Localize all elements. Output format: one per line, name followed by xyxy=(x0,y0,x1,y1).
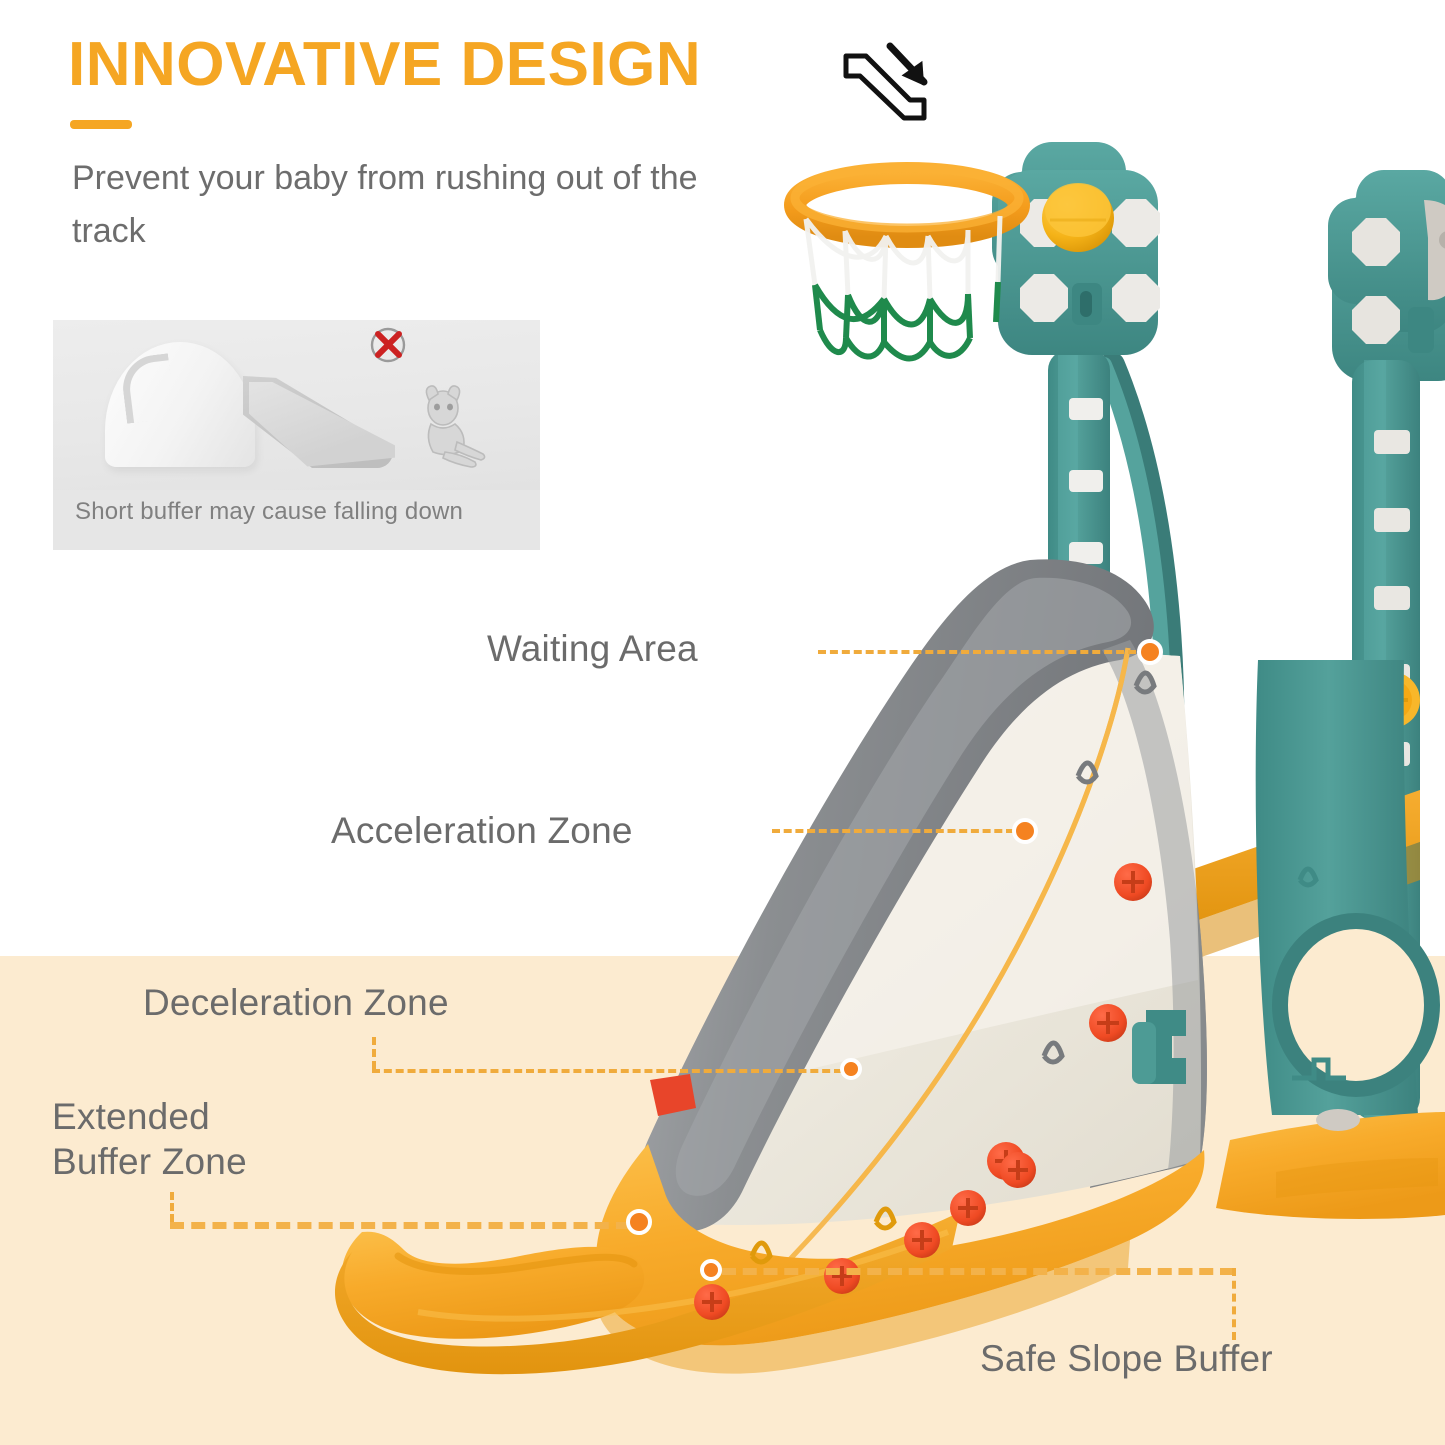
swing-frame-plate xyxy=(1328,170,1445,381)
callout-label-deceleration-zone: Deceleration Zone xyxy=(143,980,449,1026)
title-underline xyxy=(70,120,132,129)
page-title: INNOVATIVE DESIGN xyxy=(68,34,701,96)
red-x-icon xyxy=(366,323,410,367)
leader-line-safe-slope-buffer xyxy=(722,1268,1234,1275)
slide-body xyxy=(639,559,1207,1290)
basketball-hoop xyxy=(795,168,1019,359)
leader-line-acceleration-zone xyxy=(772,829,1014,833)
page-subtitle: Prevent your baby from rushing out of th… xyxy=(72,152,772,257)
leader-dot-safe-slope-buffer xyxy=(700,1259,722,1281)
hoop-backboard-plate xyxy=(992,142,1160,355)
callout-label-extended-buffer-line2: Buffer Zone xyxy=(52,1141,247,1182)
leader-dot-extended-buffer xyxy=(626,1209,652,1235)
small-slide-ramp-highlight xyxy=(249,382,395,470)
leader-dot-acceleration-zone xyxy=(1012,818,1038,844)
infographic-canvas: INNOVATIVE DESIGN Prevent your baby from… xyxy=(0,0,1445,1445)
callout-label-safe-slope-buffer: Safe Slope Buffer xyxy=(980,1336,1273,1382)
counter-example-photo xyxy=(53,320,540,490)
callout-label-waiting-area: Waiting Area xyxy=(487,626,698,672)
callout-label-extended-buffer-line1: Extended xyxy=(52,1096,210,1137)
leader-stub-extended-buffer xyxy=(170,1192,174,1222)
leader-line-deceleration-zone xyxy=(372,1069,842,1073)
callout-label-acceleration-zone: Acceleration Zone xyxy=(331,808,633,854)
counter-example-card: Short buffer may cause falling down xyxy=(53,320,540,550)
leader-dot-deceleration-zone xyxy=(840,1058,862,1080)
callout-label-extended-buffer: ExtendedBuffer Zone xyxy=(52,1094,332,1184)
fallen-child-figure xyxy=(405,380,497,472)
leader-line-extended-buffer xyxy=(170,1222,630,1229)
slide-down-icon xyxy=(838,34,948,134)
leader-line-waiting-area xyxy=(818,650,1136,654)
leader-dot-waiting-area xyxy=(1137,639,1163,665)
counter-example-caption: Short buffer may cause falling down xyxy=(75,498,463,526)
small-slide-arch xyxy=(119,353,176,423)
leader-stub-deceleration-zone xyxy=(372,1037,376,1069)
leader-stub-safe-slope-buffer xyxy=(1232,1268,1236,1340)
